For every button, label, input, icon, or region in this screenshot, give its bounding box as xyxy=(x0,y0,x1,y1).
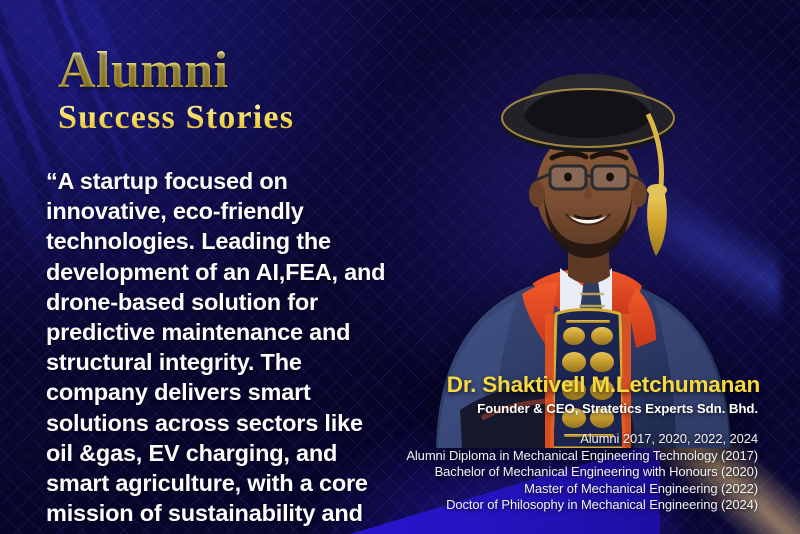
credential-line: Alumni Diploma in Mechanical Engineering… xyxy=(198,448,758,465)
headline-primary: Alumni xyxy=(58,46,294,96)
credential-line: Alumni 2017, 2020, 2022, 2024 xyxy=(198,431,758,448)
person-name: Dr. Shaktivell M.Letchumanan xyxy=(240,372,760,398)
headline-secondary: Success Stories xyxy=(58,98,294,138)
credential-line: Doctor of Philosophy in Mechanical Engin… xyxy=(198,497,758,514)
page-title: Alumni Success Stories xyxy=(58,46,294,138)
credential-line: Master of Mechanical Engineering (2022) xyxy=(198,481,758,498)
credential-line: Bachelor of Mechanical Engineering with … xyxy=(198,464,758,481)
alumni-success-story-poster: Alumni Success Stories “A startup focuse… xyxy=(0,0,800,534)
person-credentials: Alumni 2017, 2020, 2022, 2024 Alumni Dip… xyxy=(198,431,758,514)
person-role: Founder & CEO, Stratetics Experts Sdn. B… xyxy=(238,401,758,416)
